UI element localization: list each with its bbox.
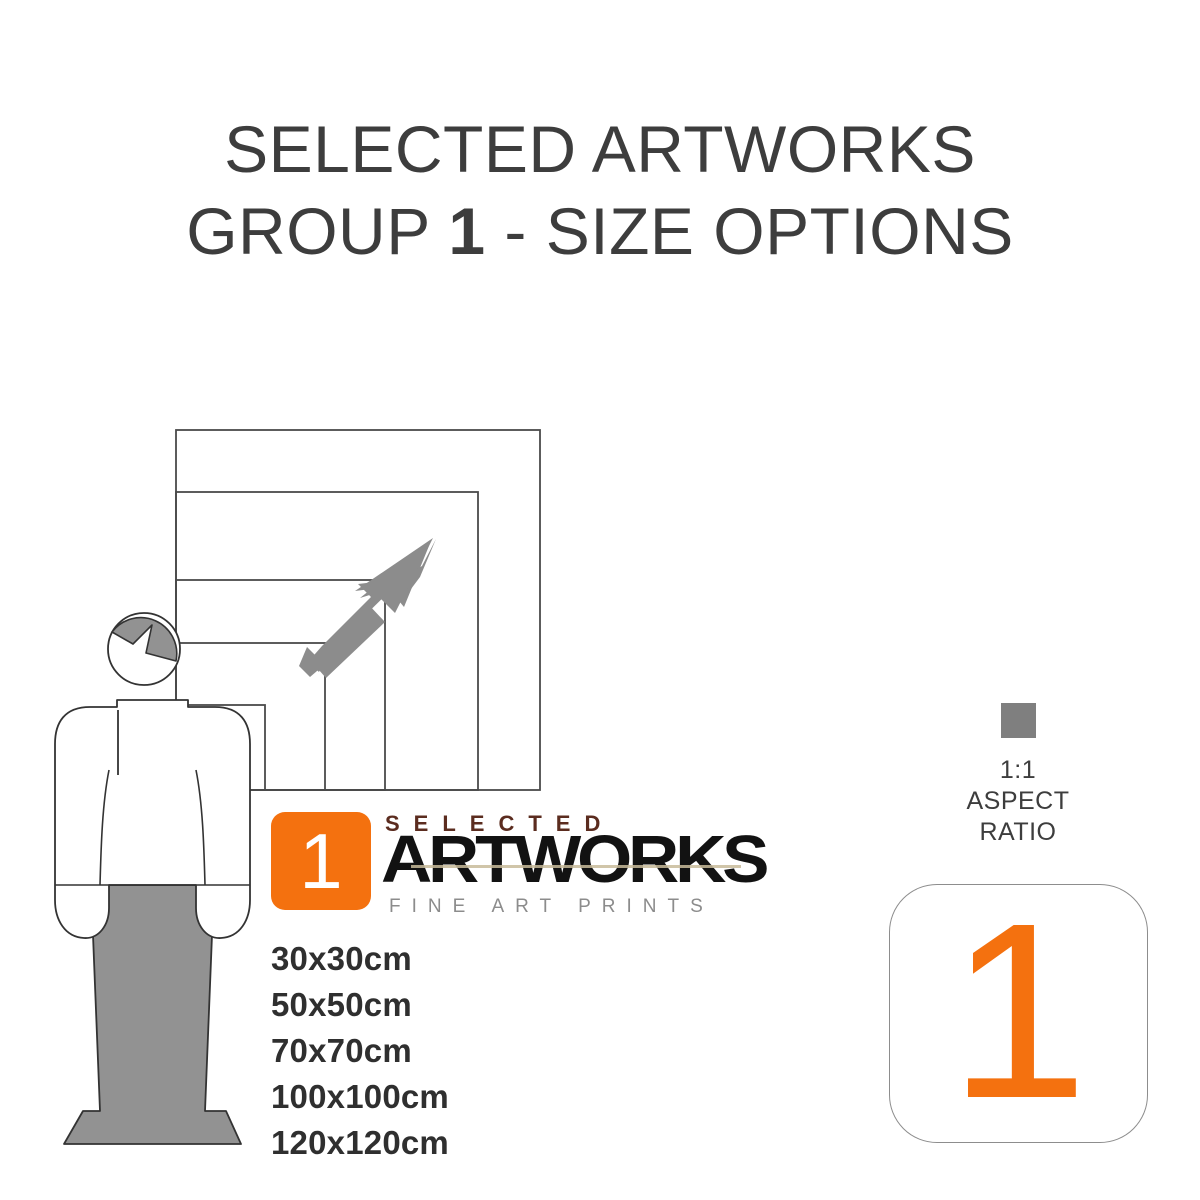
aspect-ratio-label-line2: RATIO <box>938 817 1098 848</box>
poster-canvas: SELECTED ARTWORKS GROUP 1 - SIZE OPTIONS <box>0 0 1200 1200</box>
logo-wordmark: SELECTED ARTWORKS FINE ART PRINTS <box>381 812 831 922</box>
list-item: 100x100cm <box>271 1074 691 1120</box>
list-item: 120x120cm <box>271 1120 691 1166</box>
group-number-digit: 1 <box>890 885 1147 1142</box>
aspect-ratio-block: 1:1 ASPECT RATIO <box>938 703 1098 848</box>
aspect-ratio-value: 1:1 <box>938 755 1098 786</box>
size-options-list: 30x30cm 50x50cm 70x70cm 100x100cm 120x12… <box>271 936 691 1166</box>
aspect-ratio-label-line1: ASPECT <box>938 786 1098 817</box>
list-item: 50x50cm <box>271 982 691 1028</box>
logo-distress-stripe <box>411 865 741 868</box>
list-item: 70x70cm <box>271 1028 691 1074</box>
brand-logo: 1 SELECTED ARTWORKS FINE ART PRINTS <box>271 812 831 922</box>
list-item: 30x30cm <box>271 936 691 982</box>
aspect-ratio-swatch-icon <box>1001 703 1036 738</box>
logo-tagline: FINE ART PRINTS <box>389 896 714 918</box>
logo-badge-number: 1 <box>271 812 371 910</box>
logo-artworks-text: ARTWORKS <box>381 825 765 895</box>
group-number-card: 1 <box>889 884 1148 1143</box>
